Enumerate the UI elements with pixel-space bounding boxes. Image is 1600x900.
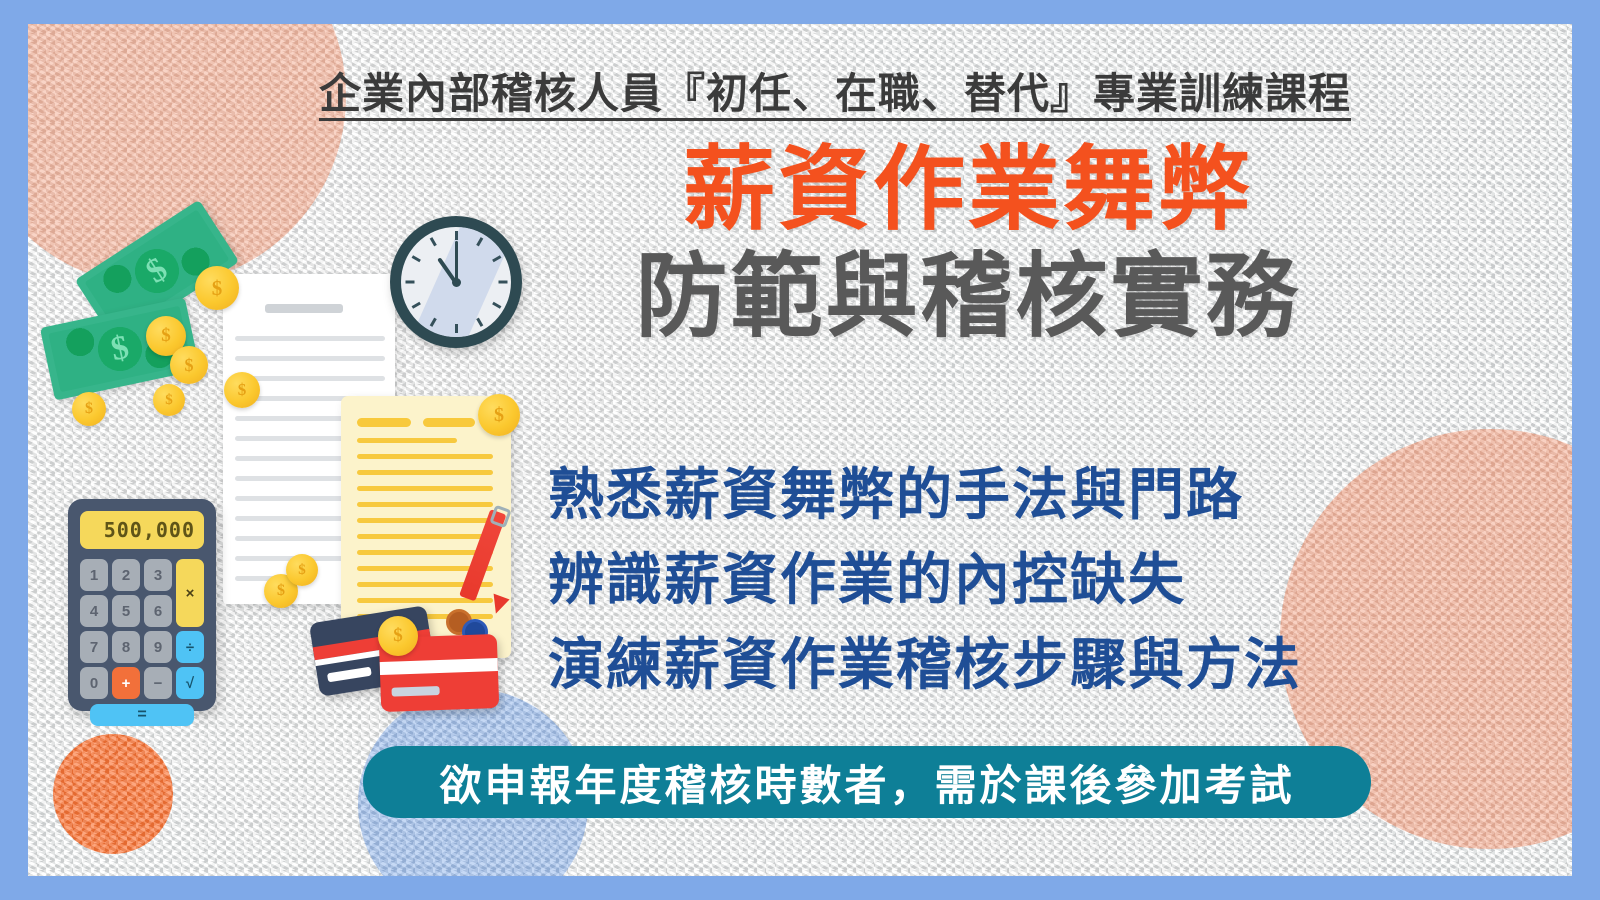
clock-tick [405, 281, 414, 284]
clock-tick [411, 255, 420, 262]
course-objective-1: 熟悉薪資舞弊的手法與門路 [548, 452, 1428, 537]
ydoc-line [357, 534, 493, 539]
calc-key-equals: = [90, 704, 194, 726]
doc-line [235, 336, 385, 341]
card-number-bar [327, 667, 372, 683]
calc-key-2: 2 [112, 559, 140, 591]
ydoc-line [357, 550, 493, 555]
decor-circle-orange-bottom-left [53, 734, 173, 854]
ydoc-heading [423, 418, 475, 427]
gold-coin: $ [478, 394, 520, 436]
calc-key-multiply: × [176, 559, 204, 627]
calculator-display-value: 500,000 [104, 518, 195, 542]
gold-coin: $ [224, 372, 260, 408]
clock-face [401, 227, 511, 337]
gold-coin: $ [195, 266, 239, 310]
calc-key-4: 4 [80, 595, 108, 627]
gold-coin: $ [153, 384, 185, 416]
ydoc-line [357, 502, 493, 507]
calc-key-5: 5 [112, 595, 140, 627]
calc-key-8: 8 [112, 631, 140, 663]
finance-illustration: $ $ [58, 224, 558, 724]
calc-key-minus: − [144, 667, 172, 699]
clock-center-pin [452, 278, 461, 287]
poster-card: $ $ [28, 24, 1572, 876]
calc-key-6: 6 [144, 595, 172, 627]
poster-root: $ $ [0, 0, 1600, 900]
course-objective-3: 演練薪資作業稽核步驟與方法 [548, 622, 1428, 707]
doc-heading-line [265, 304, 343, 313]
clock-minute-hand [455, 241, 458, 283]
ydoc-line [357, 454, 493, 459]
gold-coin: $ [378, 616, 418, 656]
card-number-bar [391, 686, 439, 697]
clock-tick [498, 281, 507, 284]
gold-coin: $ [170, 346, 208, 384]
course-header-title: 企業內部稽核人員『初任、在職、替代』專業訓練課程 [28, 60, 1572, 121]
clock-tick [455, 324, 458, 333]
ydoc-line [357, 518, 493, 523]
calculator-illustration: 500,000 1 2 3 × 4 5 6 7 8 9 ÷ 0 + − [68, 499, 216, 711]
clock-tick [492, 302, 501, 309]
calc-key-divide: ÷ [176, 631, 204, 663]
clock-tick [429, 237, 436, 246]
headline-secondary: 防範與稽核實務 [528, 246, 1408, 349]
clock-tick [411, 302, 420, 309]
calc-key-plus: + [112, 667, 140, 699]
calc-key-1: 1 [80, 559, 108, 591]
ydoc-line [357, 470, 493, 475]
clock-tick [455, 231, 458, 240]
headline-block: 薪資作業舞弊 防範與稽核實務 [528, 142, 1408, 349]
headline-primary: 薪資作業舞弊 [528, 142, 1408, 240]
calc-key-sqrt: √ [176, 667, 204, 699]
ydoc-heading [357, 418, 411, 427]
clock-tick [476, 318, 483, 327]
calc-key-3: 3 [144, 559, 172, 591]
gold-coin: $ [72, 392, 106, 426]
calc-key-0: 0 [80, 667, 108, 699]
course-objectives-list: 熟悉薪資舞弊的手法與門路 辨識薪資作業的內控缺失 演練薪資作業稽核步驟與方法 [548, 452, 1428, 707]
calculator-display: 500,000 [80, 511, 204, 549]
course-objective-2: 辨識薪資作業的內控缺失 [548, 537, 1428, 622]
ydoc-line [357, 438, 457, 443]
calculator-keypad: 1 2 3 × 4 5 6 7 8 9 ÷ 0 + − √ [80, 559, 204, 699]
calc-key-7: 7 [80, 631, 108, 663]
calc-key-9: 9 [144, 631, 172, 663]
ydoc-line [357, 486, 493, 491]
gold-coin: $ [286, 554, 318, 586]
exam-notice-banner: 欲申報年度稽核時數者，需於課後參加考試 [363, 746, 1371, 818]
exam-notice-text: 欲申報年度稽核時數者，需於課後參加考試 [439, 752, 1294, 813]
card-stripe [380, 658, 498, 675]
wall-clock-icon [390, 216, 522, 348]
doc-line [235, 356, 385, 361]
